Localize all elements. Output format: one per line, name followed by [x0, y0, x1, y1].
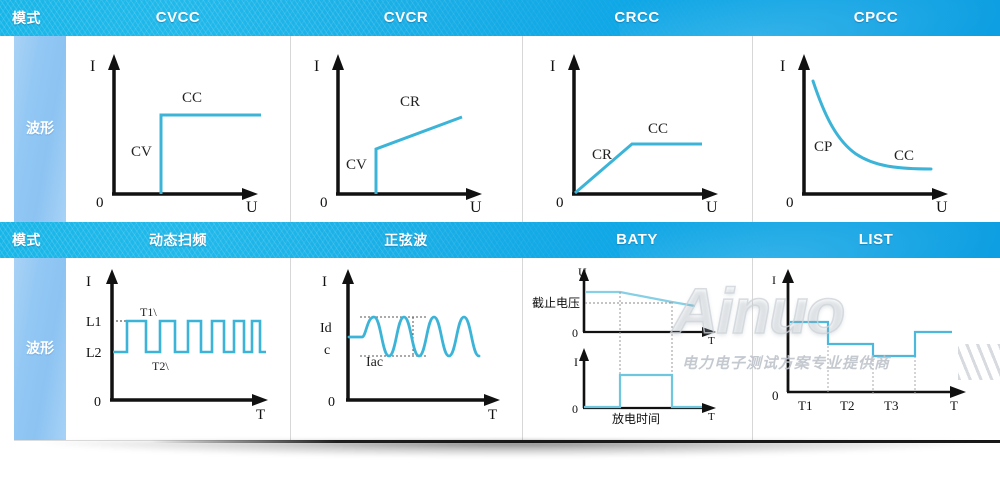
side-label-text-1: 波形 — [26, 120, 54, 138]
cpcc-origin: 0 — [786, 195, 794, 211]
cpcc-annotation-cc: CC — [894, 148, 914, 164]
baty-cutoff-voltage-label: 截止电压 — [532, 296, 580, 310]
baty-discharge-time-label: 放电时间 — [612, 411, 660, 425]
header-title-crcc: CRCC — [522, 0, 752, 36]
sine-xlabel: T — [488, 407, 497, 422]
chart-band-row-2: I T 0 L1 L2 T1\ T2\ I — [66, 258, 1000, 440]
cpcc-xlabel: U — [936, 199, 948, 214]
chart-baty: U T 0 截止电压 I T 0 放电时间 — [532, 260, 747, 425]
baty-u-ylabel: U — [578, 265, 587, 279]
cvcr-curve — [376, 117, 462, 194]
bottom-shadow — [40, 441, 980, 457]
sweep-square-wave — [113, 321, 266, 352]
baty-i-origin: 0 — [572, 402, 578, 416]
column-divider-1 — [290, 36, 291, 222]
crcc-ylabel: I — [550, 58, 555, 75]
sine-curve — [349, 317, 479, 356]
sine-origin: 0 — [328, 395, 335, 410]
sweep-ylabel: I — [86, 274, 91, 290]
sine-x-arrow — [484, 394, 500, 406]
sweep-xlabel: T — [256, 407, 265, 422]
crcc-annotation-cr: CR — [592, 147, 612, 163]
side-label-text-2: 波形 — [26, 340, 54, 358]
header-title-cpcc: CPCC — [752, 0, 1000, 36]
header-row-1: 模式 CVCC CVCR CRCC CPCC — [0, 0, 1000, 36]
crcc-origin: 0 — [556, 195, 564, 211]
sweep-annotation-t2: T2\ — [152, 359, 169, 373]
chart-dynamic-sweep: I T 0 L1 L2 T1\ T2\ — [72, 262, 282, 422]
cvcc-curve — [161, 115, 261, 194]
bottom-edge-line — [150, 440, 1000, 443]
column-divider-5 — [522, 258, 523, 440]
baty-u-xlabel: T — [708, 335, 715, 347]
list-xtick-t1: T1 — [798, 398, 812, 413]
baty-voltage-curve — [585, 292, 695, 306]
sweep-y-arrow — [106, 269, 118, 284]
list-origin: 0 — [772, 388, 779, 403]
cvcr-xlabel: U — [470, 199, 482, 214]
chart-sine-wave: I T 0 Id c Iac — [304, 262, 519, 422]
column-divider-4 — [290, 258, 291, 440]
chart-list: I T 0 T1 T2 T3 — [760, 262, 990, 422]
chart-cvcc: I U 0 CV CC — [76, 44, 281, 214]
cvcr-ylabel: I — [314, 58, 319, 75]
chart-cvcr: I U 0 CV CR — [300, 44, 515, 214]
cvcr-annotation-cr: CR — [400, 94, 420, 110]
cvcc-annotation-cc: CC — [182, 90, 202, 106]
baty-i-y-arrow — [579, 348, 589, 361]
column-divider-6 — [752, 258, 753, 440]
header-title-dynamic-sweep: 动态扫频 — [66, 222, 290, 258]
header-title-cvcc: CVCC — [66, 0, 290, 36]
chart-crcc: I U 0 CR CC — [536, 44, 746, 214]
header-mode-label-2: 模式 — [0, 222, 66, 258]
list-step-curve — [789, 322, 952, 356]
cvcc-y-arrow — [108, 54, 120, 70]
list-xlabel: T — [950, 398, 958, 413]
cpcc-annotation-cp: CP — [814, 139, 832, 155]
header-row-2: 模式 动态扫频 正弦波 BATY LIST — [0, 222, 1000, 258]
diagram-page: 模式 CVCC CVCR CRCC CPCC 波形 I U 0 — [0, 0, 1000, 486]
cvcr-y-arrow — [332, 54, 344, 70]
cvcc-origin: 0 — [96, 195, 104, 211]
cvcc-xlabel: U — [246, 199, 258, 214]
sine-ytick-c: c — [324, 343, 330, 358]
sine-ylabel: I — [322, 274, 327, 290]
cvcc-annotation-cv: CV — [131, 144, 152, 160]
list-x-arrow — [950, 386, 966, 398]
chart-band-row-1: I U 0 CV CC I U 0 CV CR — [66, 36, 1000, 222]
header-title-sine-wave: 正弦波 — [290, 222, 522, 258]
list-xtick-t3: T3 — [884, 398, 898, 413]
crcc-y-arrow — [568, 54, 580, 70]
cvcc-ylabel: I — [90, 58, 95, 75]
header-title-list: LIST — [752, 222, 1000, 258]
column-divider-3 — [752, 36, 753, 222]
list-y-arrow — [782, 269, 794, 283]
cvcr-annotation-cv: CV — [346, 157, 367, 173]
baty-u-origin: 0 — [572, 326, 578, 340]
sweep-ytick-l2: L2 — [86, 346, 102, 361]
header-title-cvcr: CVCR — [290, 0, 522, 36]
list-ylabel: I — [772, 273, 776, 287]
list-xtick-t2: T2 — [840, 398, 854, 413]
cpcc-y-arrow — [798, 54, 810, 70]
baty-current-pulse — [584, 375, 702, 407]
sine-y-arrow — [342, 269, 354, 284]
sine-ytick-id: Id — [320, 321, 332, 336]
sweep-origin: 0 — [94, 395, 101, 410]
baty-i-ylabel: I — [574, 355, 578, 369]
side-label-waveform-1: 波形 — [14, 36, 66, 222]
sweep-annotation-t1: T1\ — [140, 305, 157, 319]
sine-annotation-iac: Iac — [366, 355, 383, 370]
baty-i-xlabel: T — [708, 411, 715, 423]
crcc-annotation-cc: CC — [648, 121, 668, 137]
cpcc-ylabel: I — [780, 58, 785, 75]
header-title-baty: BATY — [522, 222, 752, 258]
crcc-xlabel: U — [706, 199, 718, 214]
sweep-ytick-l1: L1 — [86, 315, 102, 330]
column-divider-2 — [522, 36, 523, 222]
sweep-x-arrow — [252, 394, 268, 406]
chart-cpcc: I U 0 CP CC — [766, 44, 981, 214]
side-label-waveform-2: 波形 — [14, 258, 66, 440]
cvcr-origin: 0 — [320, 195, 328, 211]
header-mode-label-1: 模式 — [0, 0, 66, 36]
